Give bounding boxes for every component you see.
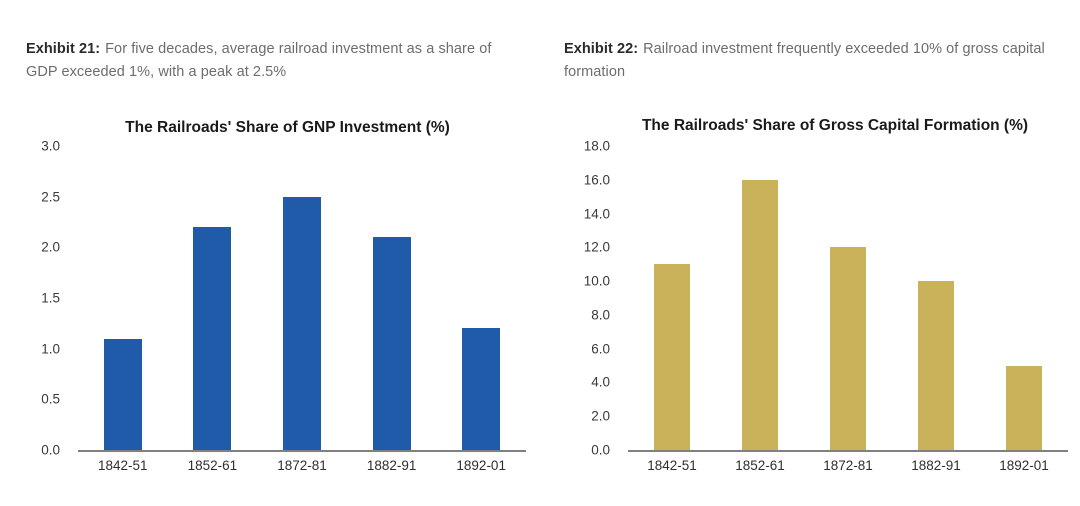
chart-plot-gross-capital-formation: 0.02.04.06.08.010.012.014.016.018.01842-…: [540, 0, 1080, 506]
y-axis-tick-label: 2.5: [10, 189, 60, 204]
x-axis-tick-label: 1882-91: [347, 458, 437, 473]
bar: [462, 328, 500, 450]
y-axis-tick-label: 6.0: [556, 341, 610, 356]
x-axis-tick-label: 1892-01: [436, 458, 526, 473]
y-axis-tick-label: 8.0: [556, 307, 610, 322]
y-axis-tick-label: 16.0: [556, 172, 610, 187]
y-axis-tick-label: 1.0: [10, 341, 60, 356]
bar: [918, 281, 954, 450]
exhibit-panel-22: Exhibit 22:Railroad investment frequentl…: [540, 0, 1080, 506]
y-axis-tick-label: 0.5: [10, 392, 60, 407]
x-axis-tick-label: 1842-51: [78, 458, 168, 473]
x-axis-tick-label: 1842-51: [628, 458, 716, 473]
y-axis-tick-label: 0.0: [10, 443, 60, 458]
bar: [373, 237, 411, 450]
y-axis-tick-label: 0.0: [556, 443, 610, 458]
bar: [283, 197, 321, 450]
exhibit-panel-21: Exhibit 21:For five decades, average rai…: [0, 0, 540, 506]
bar: [742, 180, 778, 450]
x-axis-tick-label: 1892-01: [980, 458, 1068, 473]
x-axis-tick-label: 1852-61: [716, 458, 804, 473]
x-axis-line-right: [628, 450, 1068, 452]
y-axis-tick-label: 4.0: [556, 375, 610, 390]
y-axis-tick-label: 2.0: [10, 240, 60, 255]
bar: [104, 339, 142, 450]
exhibit-page: Exhibit 21:For five decades, average rai…: [0, 0, 1080, 506]
x-axis-tick-label: 1852-61: [168, 458, 258, 473]
x-axis-line-left: [78, 450, 526, 452]
y-axis-tick-label: 18.0: [556, 139, 610, 154]
bar: [1006, 366, 1042, 450]
chart-plot-gnp-investment: 0.00.51.01.52.02.53.01842-511852-611872-…: [0, 0, 540, 506]
bar: [654, 264, 690, 450]
y-axis-tick-label: 10.0: [556, 274, 610, 289]
bar: [193, 227, 231, 450]
y-axis-tick-label: 3.0: [10, 139, 60, 154]
y-axis-tick-label: 1.5: [10, 291, 60, 306]
y-axis-tick-label: 14.0: [556, 206, 610, 221]
x-axis-tick-label: 1872-81: [257, 458, 347, 473]
y-axis-tick-label: 12.0: [556, 240, 610, 255]
bar: [830, 247, 866, 450]
x-axis-tick-label: 1872-81: [804, 458, 892, 473]
x-axis-tick-label: 1882-91: [892, 458, 980, 473]
y-axis-tick-label: 2.0: [556, 409, 610, 424]
